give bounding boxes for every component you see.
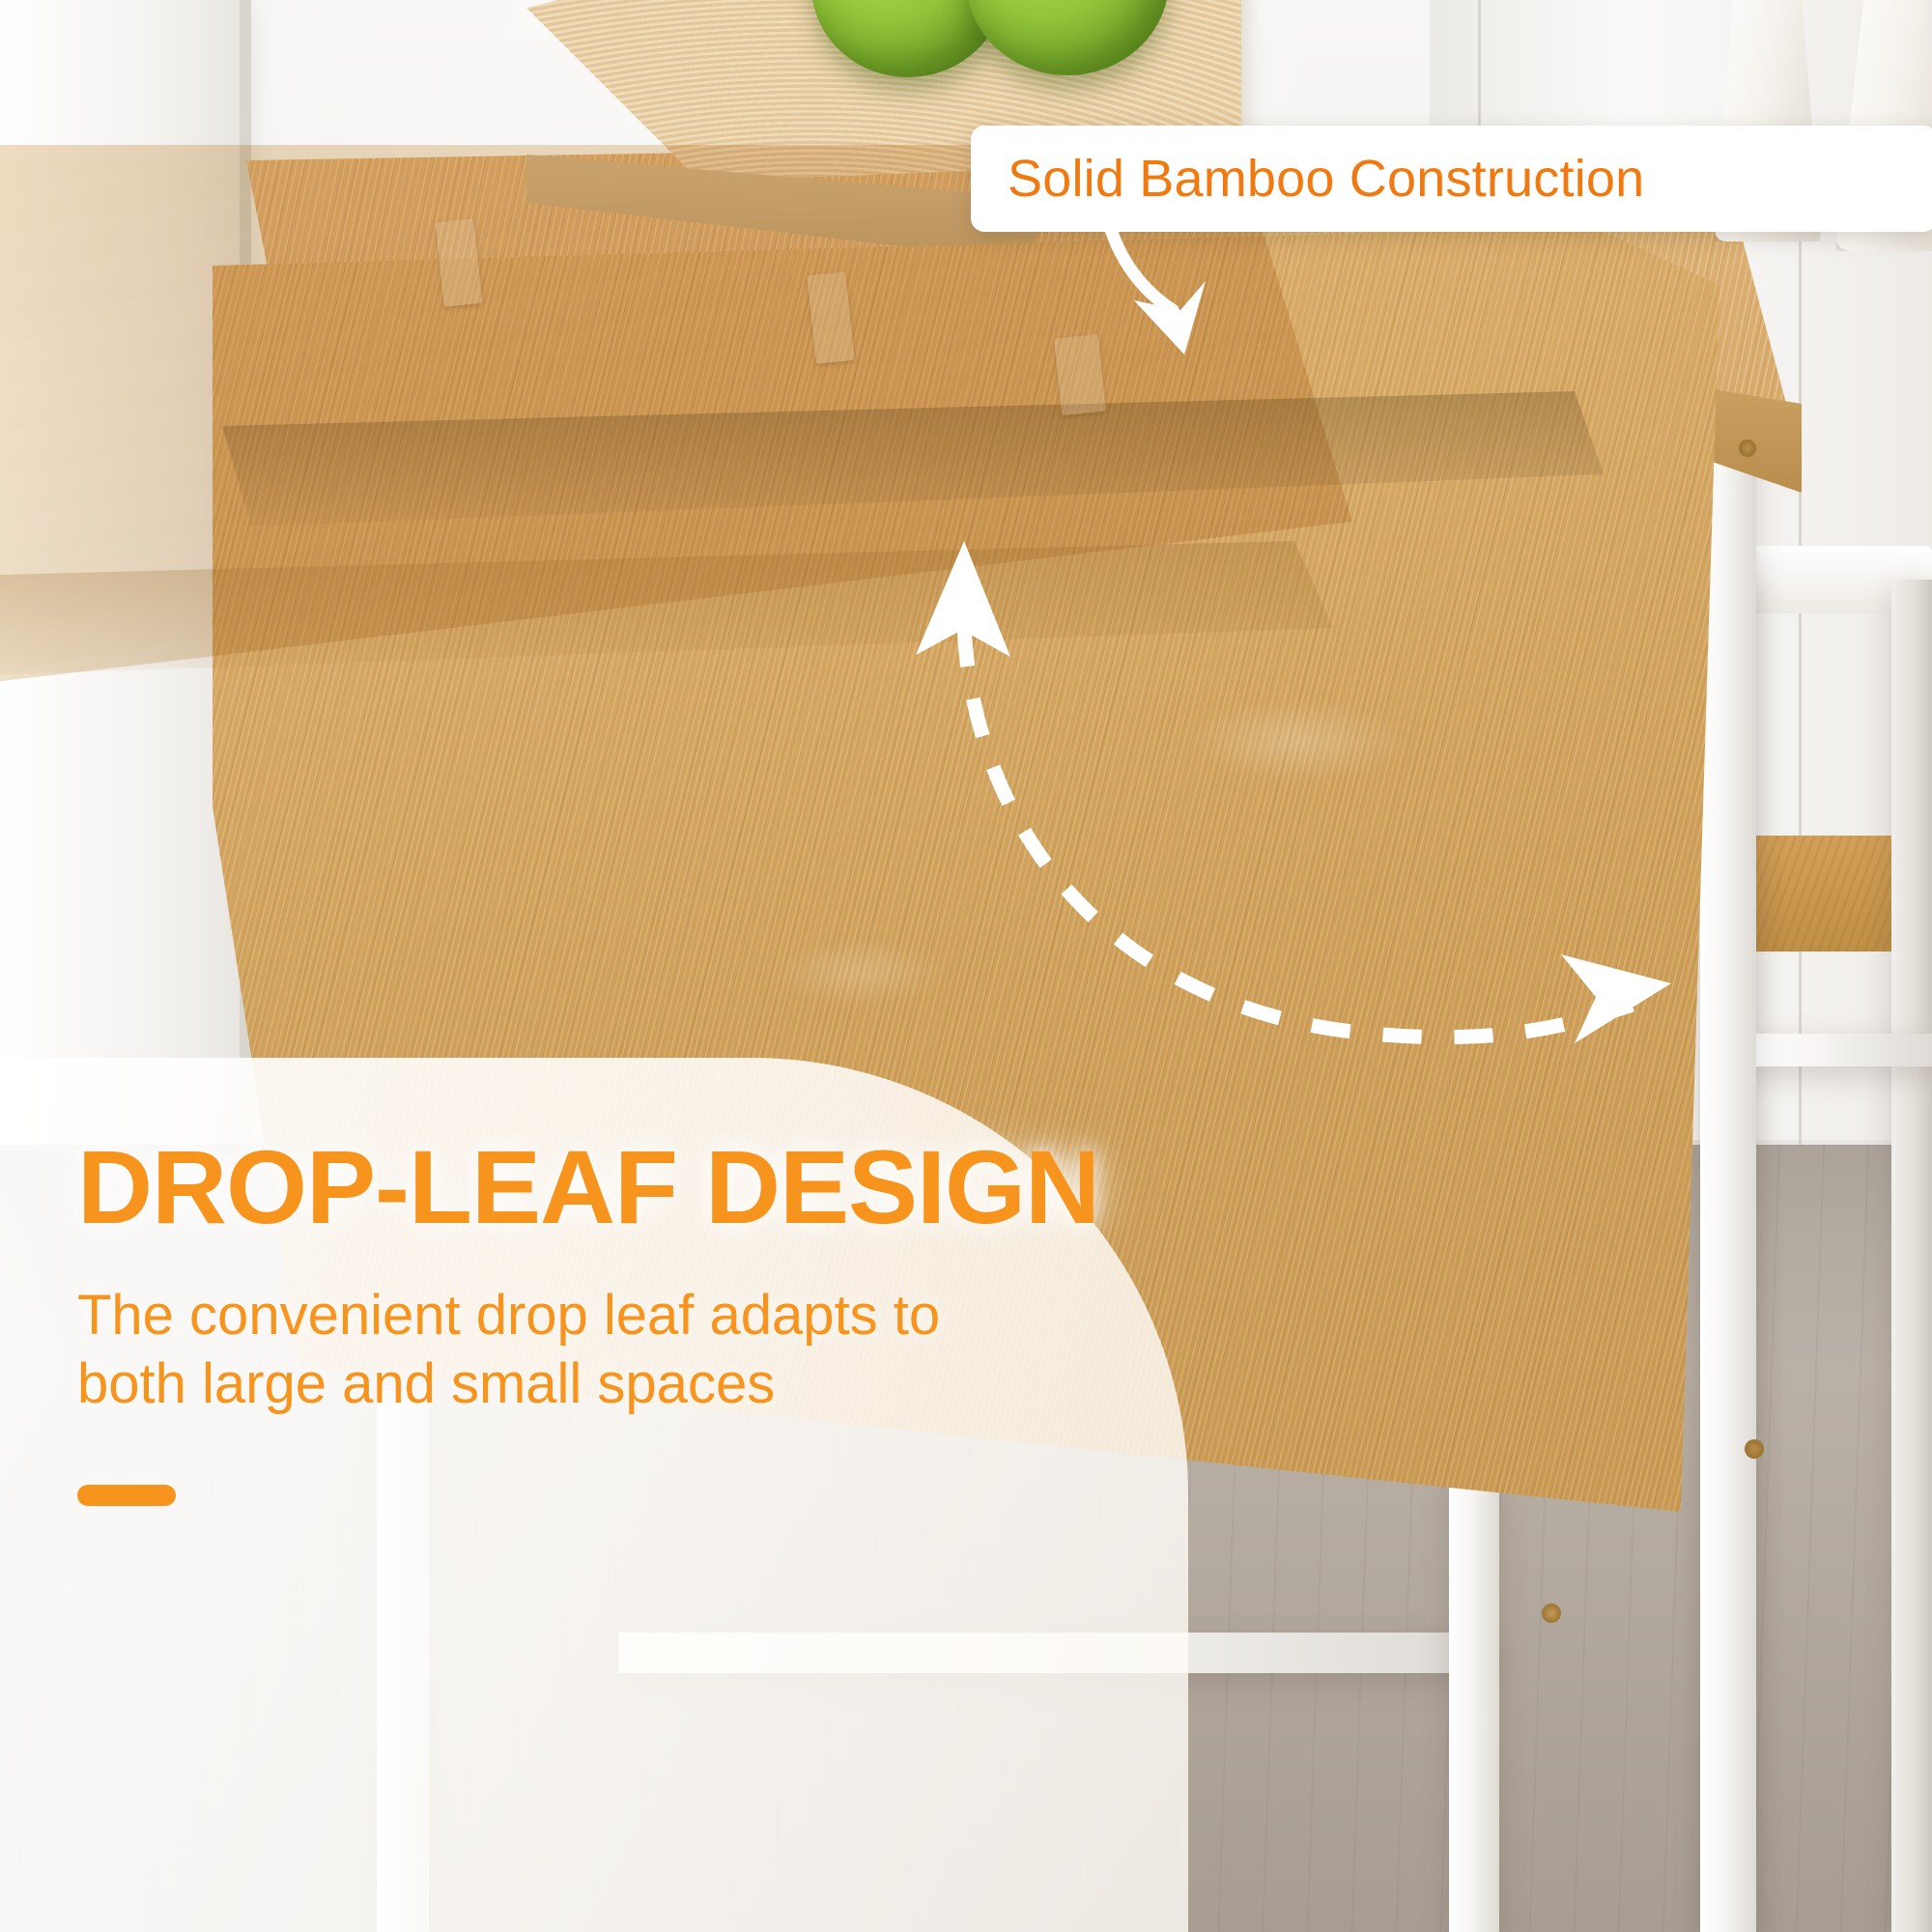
screw-icon <box>1745 1439 1764 1459</box>
screw-icon <box>1542 1604 1561 1623</box>
bench-leg <box>1891 580 1932 1932</box>
screw-icon <box>1739 440 1756 457</box>
banner-title: DROP-LEAF DESIGN <box>77 1135 1101 1239</box>
table-leg-mid <box>1449 1468 1499 1932</box>
banner-content: DROP-LEAF DESIGN The convenient drop lea… <box>77 1135 1101 1506</box>
table-leg-right <box>1700 440 1756 1932</box>
callout-solid-bamboo[interactable]: Solid Bamboo Construction <box>971 126 1932 232</box>
product-photo-scene: Solid Bamboo Construction DROP-LEAF DESI… <box>0 0 1932 1932</box>
bench-stretcher <box>1729 1034 1932 1066</box>
callout-label: Solid Bamboo Construction <box>1008 149 1644 209</box>
orange-dash-divider <box>77 1485 176 1506</box>
curved-down-arrow-icon <box>1092 217 1285 372</box>
banner-subtitle: The convenient drop leaf adapts to both … <box>77 1282 1043 1419</box>
dashed-curved-double-arrow-icon <box>898 522 1690 1063</box>
